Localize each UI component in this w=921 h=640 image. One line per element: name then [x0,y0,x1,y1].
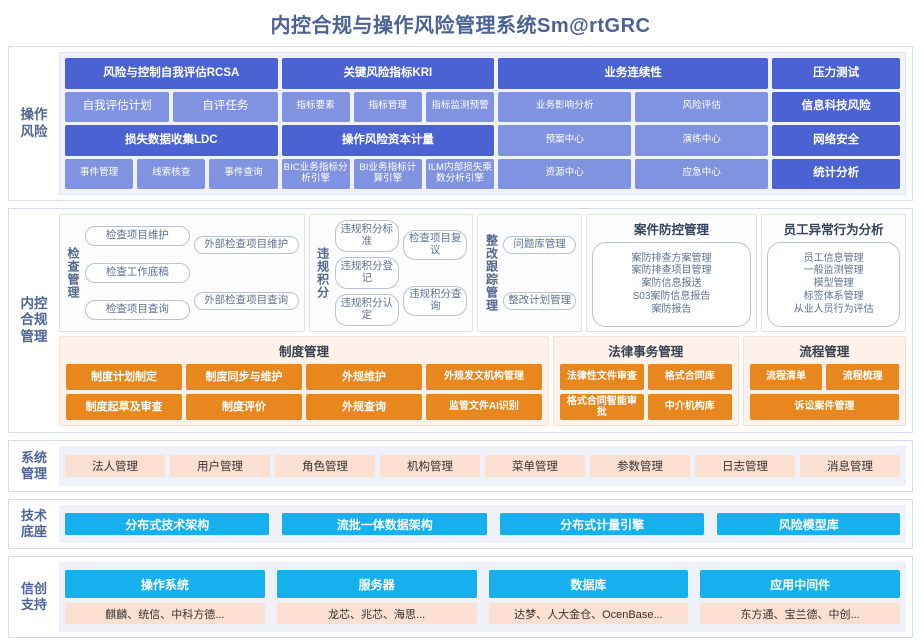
cell-contract-smart-approval[interactable]: 格式合同智能审批 [560,394,644,420]
band-label-line-2: 管理 [21,466,47,482]
operational-risk-grid: 风险与控制自我评估RCSA 关键风险指标KRI 业务连续性 压力测试 自我评估计… [59,52,906,195]
rectification-pills: 问题库管理 整改计划管理 [503,219,575,327]
item-bic-engine[interactable]: BIC业务指标分析引擎 [282,159,350,190]
inspection-left-pills: 检查项目维护 检查工作底稿 检查项目查询 [85,219,190,327]
pane-violation-points: 违规积分 违规积分标准 违规积分登记 违规积分认定 检查项目复议 违规积分查询 [309,214,474,332]
cell-batch-stream-data-arch[interactable]: 流批一体数据架构 [282,513,486,535]
band-body-xinchuang: 操作系统 麒麟、统信、中科方德... 服务器 龙芯、兆芯、海思... 数据库 达… [59,557,912,637]
internal-control-orange-boxes: 制度管理 制度计划制定 制度同步与维护 外规维护 外规发文机构管理 制度起草及审… [59,336,906,426]
module-network-security[interactable]: 网络安全 [772,125,900,156]
cell-policy-draft-review[interactable]: 制度起草及审查 [66,394,182,420]
box-title-legal-affairs: 法律事务管理 [560,341,732,360]
vendors-server[interactable]: 龙芯、兆芯、海思... [277,603,477,624]
band-body-system-management: 法人管理 用户管理 角色管理 机构管理 菜单管理 参数管理 日志管理 消息管理 [59,441,912,491]
pill-violation-register[interactable]: 违规积分登记 [335,257,399,289]
item-self-assessment-task[interactable]: 自评任务 [173,92,277,123]
item-case-report: 案防报告 [652,304,692,317]
cell-external-reg-maintain[interactable]: 外规维护 [306,364,422,390]
module-op-risk-capital[interactable]: 操作风险资本计量 [282,125,495,156]
module-stress-test[interactable]: 压力测试 [772,58,900,89]
box-process-management: 流程管理 流程清单 流程梳理 诉讼案件管理 [743,336,906,426]
item-general-monitoring: 一般监测管理 [804,265,864,278]
item-indicator-management[interactable]: 指标管理 [354,92,422,123]
head-operating-system[interactable]: 操作系统 [65,570,265,598]
cell-process-list[interactable]: 流程清单 [750,364,823,390]
cell-risk-model-library[interactable]: 风险模型库 [717,513,900,535]
item-business-impact-analysis[interactable]: 业务影响分析 [498,92,631,123]
item-practitioner-behavior-eval: 从业人员行为评估 [794,304,874,317]
cell-regulatory-ai-recognition[interactable]: 监管文件AI识别 [426,394,542,420]
band-label-line-3: 管理 [21,329,48,345]
item-bi-engine[interactable]: BI业务指标计算引擎 [354,159,422,190]
cell-policy-evaluation[interactable]: 制度评价 [186,394,302,420]
band-label-line-2: 支持 [21,597,47,613]
pane-vlabel-violation: 违规积分 [315,219,335,327]
item-emergency-center[interactable]: 应急中心 [635,159,768,190]
item-model-management: 模型管理 [814,278,854,291]
rcsa-subitems: 自我评估计划 自评任务 [65,92,278,123]
cell-intermediary-library[interactable]: 中介机构库 [648,394,732,420]
cell-role-management[interactable]: 角色管理 [275,455,375,477]
item-ilm-engine[interactable]: ILM内部损失乘数分析引擎 [426,159,494,190]
pane-title-case-prevention: 案件防控管理 [592,219,752,238]
cell-standard-contract-library[interactable]: 格式合同库 [648,364,732,390]
band-system-management: 系统 管理 法人管理 用户管理 角色管理 机构管理 菜单管理 参数管理 日志管理… [8,440,913,492]
item-tag-system-management: 标签体系管理 [804,291,864,304]
pane-vlabel-rectification: 整改跟踪管理 [483,219,503,327]
pill-violation-standard[interactable]: 违规积分标准 [335,220,399,252]
architecture-diagram: 内控合规与操作风险管理系统Sm@rtGRC 操作 风险 风险与控制自我评估RCS… [0,0,921,640]
band-body-internal-control: 检查管理 检查项目维护 检查工作底稿 检查项目查询 外部检查项目维护 外部检查项… [59,209,912,432]
page-title: 内控合规与操作风险管理系统Sm@rtGRC [270,9,650,38]
cell-external-reg-query[interactable]: 外规查询 [306,394,422,420]
item-employee-info-management: 员工信息管理 [804,253,864,266]
ldc-subitems: 事件管理 线索核查 事件查询 [65,159,278,190]
pill-violation-query[interactable]: 违规积分查询 [403,286,467,316]
box-policy-management: 制度管理 制度计划制定 制度同步与维护 外规维护 外规发文机构管理 制度起草及审… [59,336,549,426]
cell-process-combing[interactable]: 流程梳理 [826,364,899,390]
band-label-line-1: 操作 [21,107,48,123]
pane-title-employee-behavior: 员工异常行为分析 [767,219,900,238]
band-label-tech-base: 技术 底座 [9,500,59,548]
item-case-project-management: 案防排查项目管理 [632,265,712,278]
item-resource-center[interactable]: 资源中心 [498,159,631,190]
cell-distributed-measure-engine[interactable]: 分布式计量引擎 [500,513,704,535]
pill-external-inspection-maintain[interactable]: 外部检查项目维护 [194,236,299,254]
cell-message-management[interactable]: 消息管理 [800,455,900,477]
xinchuang-strip: 操作系统 麒麟、统信、中科方德... 服务器 龙芯、兆芯、海思... 数据库 达… [59,562,906,632]
head-server[interactable]: 服务器 [277,570,477,598]
band-label-line-1: 内控 [21,296,48,312]
band-label-system-management: 系统 管理 [9,441,59,491]
vendors-database[interactable]: 达梦、人大金仓、OcenBase... [489,603,689,624]
tech-base-strip: 分布式技术架构 流批一体数据架构 分布式计量引擎 风险模型库 [59,505,906,543]
cell-log-management[interactable]: 日志管理 [695,455,795,477]
band-body-tech-base: 分布式技术架构 流批一体数据架构 分布式计量引擎 风险模型库 [59,500,912,548]
cell-litigation-case-management[interactable]: 诉讼案件管理 [750,394,899,420]
pill-violation-confirm[interactable]: 违规积分认定 [335,294,399,326]
band-label-line-2: 底座 [21,524,47,540]
module-rcsa[interactable]: 风险与控制自我评估RCSA [65,58,278,89]
item-drill-center[interactable]: 演练中心 [635,125,768,156]
band-label-line-1: 技术 [21,508,47,524]
vendors-middleware[interactable]: 东方通、宝兰德、中创... [700,603,900,624]
kri-subitems: 指标要素 指标管理 指标监测预警 [282,92,495,123]
process-management-grid: 流程清单 流程梳理 诉讼案件管理 [750,364,899,420]
cell-user-management[interactable]: 用户管理 [170,455,270,477]
vendors-operating-system[interactable]: 麒麟、统信、中科方德... [65,603,265,624]
module-kri[interactable]: 关键风险指标KRI [282,58,495,89]
item-s03-case-info-report: S03案防信息报告 [633,291,711,304]
box-title-policy-management: 制度管理 [66,341,542,360]
pill-inspection-workpaper[interactable]: 检查工作底稿 [85,263,190,283]
pill-inspection-review[interactable]: 检查项目复议 [403,230,467,260]
module-statistical-analysis[interactable]: 统计分析 [772,159,900,190]
pane-rectification-tracking: 整改跟踪管理 问题库管理 整改计划管理 [477,214,581,332]
item-indicator-elements[interactable]: 指标要素 [282,92,350,123]
pill-external-inspection-query[interactable]: 外部检查项目查询 [194,292,299,310]
diagram-title-bar: 内控合规与操作风险管理系统Sm@rtGRC [0,0,921,46]
capital-subitems: BIC业务指标分析引擎 BI业务指标计算引擎 ILM内部损失乘数分析引擎 [282,159,495,190]
pill-problem-library[interactable]: 问题库管理 [503,236,575,254]
band-label-line-2: 风险 [21,124,48,140]
pill-rectification-plan[interactable]: 整改计划管理 [503,292,575,310]
xinchuang-col-middleware: 应用中间件 东方通、宝兰德、中创... [700,570,900,624]
item-plan-center[interactable]: 预案中心 [498,125,631,156]
legal-affairs-grid: 法律性文件审查 格式合同库 格式合同智能审批 中介机构库 [560,364,732,420]
item-case-plan-management: 案防排查方案管理 [632,253,712,266]
band-label-xinchuang: 信创 支持 [9,557,59,637]
cell-policy-plan[interactable]: 制度计划制定 [66,364,182,390]
item-self-assessment-plan[interactable]: 自我评估计划 [65,92,169,123]
inspection-right-pills: 外部检查项目维护 外部检查项目查询 [194,219,299,327]
item-case-info-report: 案防信息报送 [642,278,702,291]
module-business-continuity[interactable]: 业务连续性 [498,58,768,89]
band-label-internal-control: 内控 合规 管理 [9,209,59,432]
cell-menu-management[interactable]: 菜单管理 [485,455,585,477]
item-clue-check[interactable]: 线索核查 [137,159,205,190]
internal-control-panes: 检查管理 检查项目维护 检查工作底稿 检查项目查询 外部检查项目维护 外部检查项… [59,214,906,332]
band-label-line-1: 系统 [21,450,47,466]
xinchuang-col-server: 服务器 龙芯、兆芯、海思... [277,570,477,624]
xinchuang-col-database: 数据库 达梦、人大金仓、OcenBase... [489,570,689,624]
violation-left-pills: 违规积分标准 违规积分登记 违规积分认定 [335,219,399,327]
pane-employee-behavior: 员工异常行为分析 员工信息管理 一般监测管理 模型管理 标签体系管理 从业人员行… [761,214,906,332]
box-legal-affairs: 法律事务管理 法律性文件审查 格式合同库 格式合同智能审批 中介机构库 [553,336,739,426]
cell-org-management[interactable]: 机构管理 [380,455,480,477]
band-label-line-1: 信创 [21,581,47,597]
band-label-operational-risk: 操作 风险 [9,47,59,200]
head-middleware[interactable]: 应用中间件 [700,570,900,598]
cell-policy-sync-maintain[interactable]: 制度同步与维护 [186,364,302,390]
policy-management-grid: 制度计划制定 制度同步与维护 外规维护 外规发文机构管理 制度起草及审查 制度评… [66,364,542,420]
band-internal-control: 内控 合规 管理 检查管理 检查项目维护 检查工作底稿 检查项目查询 外部检查项… [8,208,913,433]
head-database[interactable]: 数据库 [489,570,689,598]
item-indicator-monitor-alert[interactable]: 指标监测预警 [426,92,494,123]
band-operational-risk: 操作 风险 风险与控制自我评估RCSA 关键风险指标KRI 业务连续性 压力测试… [8,46,913,201]
module-ldc[interactable]: 损失数据收集LDC [65,125,278,156]
cell-legal-entity-management[interactable]: 法人管理 [65,455,165,477]
pane-case-prevention: 案件防控管理 案防排查方案管理 案防排查项目管理 案防信息报送 S03案防信息报… [586,214,758,332]
cell-external-issuing-org[interactable]: 外规发文机构管理 [426,364,542,390]
employee-behavior-items[interactable]: 员工信息管理 一般监测管理 模型管理 标签体系管理 从业人员行为评估 [767,242,900,327]
band-body-operational-risk: 风险与控制自我评估RCSA 关键风险指标KRI 业务连续性 压力测试 自我评估计… [59,47,912,200]
pill-inspection-item-query[interactable]: 检查项目查询 [85,300,190,320]
item-event-query[interactable]: 事件查询 [209,159,277,190]
xinchuang-col-os: 操作系统 麒麟、统信、中科方德... [65,570,265,624]
cell-legal-doc-review[interactable]: 法律性文件审查 [560,364,644,390]
system-management-strip: 法人管理 用户管理 角色管理 机构管理 菜单管理 参数管理 日志管理 消息管理 [59,446,906,486]
item-risk-assessment[interactable]: 风险评估 [635,92,768,123]
case-prevention-items[interactable]: 案防排查方案管理 案防排查项目管理 案防信息报送 S03案防信息报告 案防报告 [592,242,752,327]
violation-right-pills: 检查项目复议 违规积分查询 [403,219,467,327]
band-xinchuang-support: 信创 支持 操作系统 麒麟、统信、中科方德... 服务器 龙芯、兆芯、海思...… [8,556,913,638]
pane-inspection-management: 检查管理 检查项目维护 检查工作底稿 检查项目查询 外部检查项目维护 外部检查项… [59,214,305,332]
band-label-line-2: 合规 [21,312,48,328]
pane-vlabel-inspection: 检查管理 [65,219,85,327]
cell-distributed-tech-arch[interactable]: 分布式技术架构 [65,513,269,535]
box-title-process-management: 流程管理 [750,341,899,360]
cell-parameter-management[interactable]: 参数管理 [590,455,690,477]
band-tech-base: 技术 底座 分布式技术架构 流批一体数据架构 分布式计量引擎 风险模型库 [8,499,913,549]
item-event-management[interactable]: 事件管理 [65,159,133,190]
pill-inspection-item-maintain[interactable]: 检查项目维护 [85,226,190,246]
module-it-risk[interactable]: 信息科技风险 [772,92,900,123]
